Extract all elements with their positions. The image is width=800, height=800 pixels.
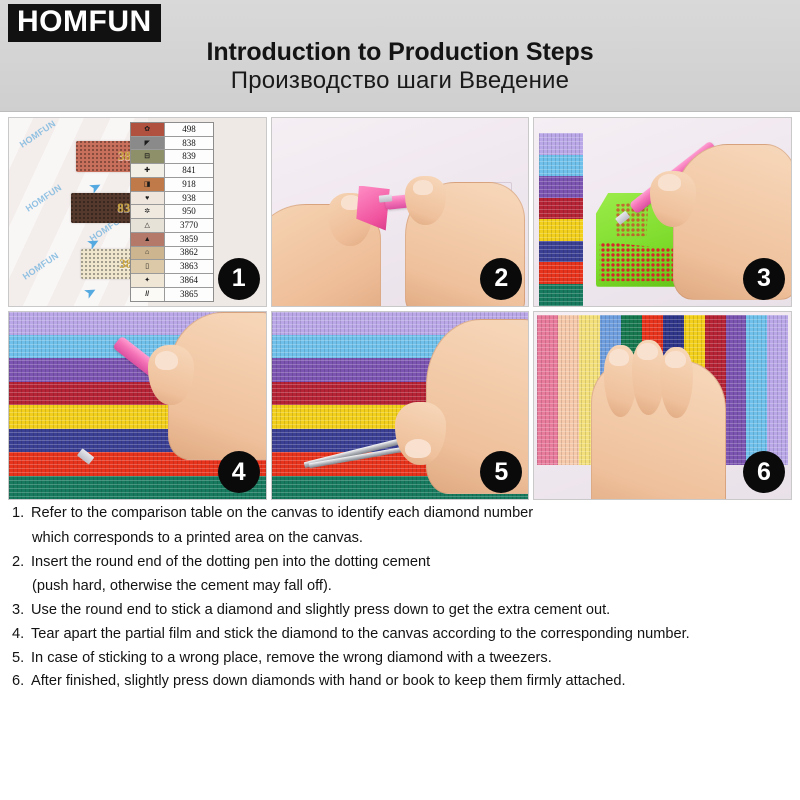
instruction-number: 5. [12, 651, 31, 667]
legend-row: ♥938 [131, 192, 214, 206]
brand-logo: HOMFUN [8, 4, 161, 42]
canvas-stripe [539, 133, 583, 155]
legend-dmc-number: 918 [165, 178, 214, 191]
legend-row: ✿498 [131, 123, 214, 137]
legend-dmc-number: 950 [165, 205, 214, 218]
instruction-list: 1.Refer to the comparison table on the c… [12, 506, 794, 698]
step-panel-1: HOMFUN HOMFUN HOMFUN HOMFUN HOMFUN ➤ ➤ ➤… [8, 117, 267, 307]
film-arrow-icon: ➤ [80, 281, 100, 303]
legend-dmc-number: 3865 [165, 288, 214, 301]
instruction-line: After finished, slightly press down diam… [31, 674, 794, 690]
canvas-stripe [539, 198, 583, 220]
instruction-number: 6. [12, 674, 31, 690]
canvas-stripe [558, 315, 579, 465]
legend-dmc-number: 938 [165, 192, 214, 205]
canvas-stripe [539, 155, 583, 177]
instruction-text: Refer to the comparison table on the can… [31, 506, 794, 547]
legend-dmc-number: 3859 [165, 233, 214, 246]
legend-row: ▲3859 [131, 233, 214, 247]
step-badge-1: 1 [218, 258, 260, 300]
page-header: HOMFUN Introduction to Production Steps … [0, 0, 800, 112]
legend-row: ▯3863 [131, 260, 214, 274]
legend-symbol-swatch: ◨ [131, 178, 165, 191]
right-hand-nail [405, 439, 431, 458]
instruction-poster: HOMFUN Introduction to Production Steps … [0, 0, 800, 800]
page-title-russian: Производство шаги Введение [0, 67, 800, 95]
pressing-hand-nail [609, 349, 630, 366]
instruction-number: 4. [12, 627, 31, 643]
legend-symbol-swatch: ♥ [131, 192, 165, 205]
step-panel-2: 2 [271, 117, 530, 307]
legend-symbol-swatch: ▯ [131, 260, 165, 273]
step-panel-4: 4 [8, 311, 267, 501]
instruction-line: Use the round end to stick a diamond and… [31, 603, 794, 619]
canvas-stripe [539, 219, 583, 241]
step-photo-grid: HOMFUN HOMFUN HOMFUN HOMFUN HOMFUN ➤ ➤ ➤… [8, 117, 792, 500]
canvas-stripe [767, 315, 788, 465]
pressing-hand-nail [637, 343, 658, 360]
legend-row: △3770 [131, 219, 214, 233]
legend-dmc-number: 839 [165, 150, 214, 163]
legend-row: ✚841 [131, 164, 214, 178]
legend-symbol-swatch: ⌂ [131, 247, 165, 260]
canvas-stripe [746, 315, 767, 465]
instruction-text: In case of sticking to a wrong place, re… [31, 651, 794, 667]
canvas-stripe [726, 315, 747, 465]
legend-row: ◤838 [131, 137, 214, 151]
instruction-line: which corresponds to a printed area on t… [32, 531, 794, 547]
legend-symbol-swatch: ✚ [131, 164, 165, 177]
legend-symbol-swatch: ✦ [131, 274, 165, 287]
canvas-stripe [539, 241, 583, 263]
step-panel-3: 3 [533, 117, 792, 307]
legend-dmc-number: 841 [165, 164, 214, 177]
legend-row: ✲950 [131, 205, 214, 219]
legend-dmc-number: 3862 [165, 247, 214, 260]
instruction-line: Tear apart the partial film and stick th… [31, 627, 794, 643]
instruction-number: 1. [12, 506, 31, 522]
legend-row: ✦3864 [131, 274, 214, 288]
legend-symbol-swatch: ▲ [131, 233, 165, 246]
step-badge-2: 2 [480, 258, 522, 300]
legend-symbol-swatch: ✿ [131, 123, 165, 136]
step-panel-6: 6 [533, 311, 792, 501]
legend-symbol-swatch: △ [131, 219, 165, 232]
legend-dmc-number: 498 [165, 123, 214, 136]
instruction-text: After finished, slightly press down diam… [31, 674, 794, 690]
instruction-item: 4.Tear apart the partial film and stick … [12, 627, 794, 643]
dmc-color-legend-table: ✿498◤838⊟839✚841◨918♥938✲950△3770▲3859⌂3… [130, 122, 215, 302]
instruction-line: Refer to the comparison table on the can… [31, 506, 794, 522]
instruction-item: 1.Refer to the comparison table on the c… [12, 506, 794, 547]
step-badge-4: 4 [218, 451, 260, 493]
legend-row: ◨918 [131, 178, 214, 192]
legend-dmc-number: 3864 [165, 274, 214, 287]
instruction-text: Tear apart the partial film and stick th… [31, 627, 794, 643]
legend-dmc-number: 3863 [165, 260, 214, 273]
instruction-item: 5.In case of sticking to a wrong place, … [12, 651, 794, 667]
legend-symbol-swatch: ⊟ [131, 150, 165, 163]
canvas-stripe [539, 262, 583, 284]
step-badge-3: 3 [743, 258, 785, 300]
legend-row: //3865 [131, 288, 214, 301]
legend-symbol-swatch: ◤ [131, 137, 165, 150]
right-hand-nail [155, 351, 178, 370]
legend-row: ⊟839 [131, 150, 214, 164]
step-badge-6: 6 [743, 451, 785, 493]
legend-dmc-number: 3770 [165, 219, 214, 232]
legend-symbol-swatch: // [131, 288, 165, 301]
canvas-stripe [537, 315, 558, 465]
instruction-line: Insert the round end of the dotting pen … [31, 555, 794, 571]
pressing-hand-nail [665, 351, 686, 368]
instruction-number: 2. [12, 555, 31, 571]
step-panel-5: 5 [271, 311, 530, 501]
legend-dmc-number: 838 [165, 137, 214, 150]
instruction-text: Use the round end to stick a diamond and… [31, 603, 794, 619]
instruction-text: Insert the round end of the dotting pen … [31, 555, 794, 596]
right-hand-nail [658, 174, 681, 191]
instruction-item: 3.Use the round end to stick a diamond a… [12, 603, 794, 619]
title-block: Introduction to Production Steps Произво… [0, 38, 800, 95]
canvas-color-strip [539, 133, 583, 306]
canvas-stripe [539, 176, 583, 198]
canvas-stripe [539, 284, 583, 306]
instruction-item: 6.After finished, slightly press down di… [12, 674, 794, 690]
instruction-line: In case of sticking to a wrong place, re… [31, 651, 794, 667]
legend-row: ⌂3862 [131, 247, 214, 261]
page-title-english: Introduction to Production Steps [0, 38, 800, 66]
dotting-pen-tip [379, 194, 392, 202]
instruction-line: (push hard, otherwise the cement may fal… [32, 579, 794, 595]
right-hand-nail [413, 180, 434, 195]
instruction-item: 2.Insert the round end of the dotting pe… [12, 555, 794, 596]
instruction-number: 3. [12, 603, 31, 619]
legend-symbol-swatch: ✲ [131, 205, 165, 218]
